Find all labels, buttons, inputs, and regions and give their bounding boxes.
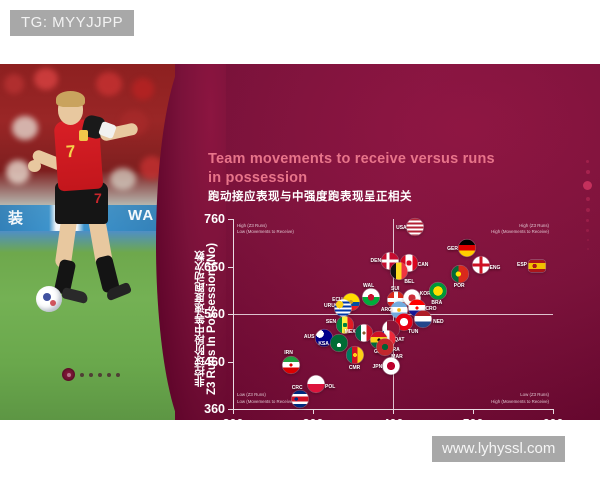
ball-icon [62,368,75,381]
screenshot-root: TG: MYYJJPP 装 WA [0,0,600,480]
country-marker-ned[interactable] [415,310,432,327]
country-label-arg: ARG [381,307,392,313]
pagination-dot[interactable] [80,373,84,377]
country-label-qat: QAT [394,337,404,343]
country-label-usa: USA [396,225,407,231]
y-axis-tick [228,219,233,220]
y-axis-tick [228,314,233,315]
y-axis-title: Z3 Runs In Possession (No) [206,224,218,414]
x-axis-tick-label: 200 [223,417,244,420]
shorts-number: 7 [94,190,102,206]
country-marker-uru[interactable] [335,300,352,317]
country-label-tun: TUN [408,329,418,335]
chart-subtitle: 跑动接应表现与中强度跑表现呈正相关 [208,188,528,204]
adboard-text-right: WA [128,207,154,224]
country-marker-eng[interactable] [473,256,490,273]
pagination-dot[interactable] [116,373,120,377]
country-label-aus: AUS [304,334,315,340]
country-marker-ger[interactable] [458,239,475,256]
player-hair [56,91,85,107]
country-marker-usa[interactable] [407,218,424,235]
country-label-bel: BEL [404,279,414,285]
player-photo: 装 WA 7 7 [0,64,175,420]
country-label-jpn: JPN [373,364,383,370]
x-axis-tick-label: 500 [463,417,484,420]
country-label-esp: ESP [517,262,527,268]
country-label-sen: SEN [326,319,336,325]
decorative-dot-strip [583,160,592,250]
country-label-uru: URU [324,303,335,309]
y-axis-tick [228,267,233,268]
country-marker-crc[interactable] [292,390,309,407]
country-label-ksa: KSA [318,341,329,347]
country-marker-irn[interactable] [282,357,299,374]
pagination-dot[interactable] [107,373,111,377]
country-label-can: CAN [418,262,429,268]
quadrant-label-top-right: High (Z3 Runs)High (Movements to Receive… [491,223,549,236]
x-axis-tick-label: 600 [543,417,564,420]
country-label-pol: POL [325,384,335,390]
country-label-wal: WAL [363,283,374,289]
country-marker-cmr[interactable] [346,346,363,363]
country-marker-bel[interactable] [391,263,408,280]
country-marker-bra[interactable] [429,283,446,300]
country-label-ger: GER [447,246,458,252]
infographic-card: 装 WA 7 7 [0,64,600,420]
site-watermark: www.lyhyssl.com [432,436,565,462]
telegram-watermark: TG: MYYJJPP [10,10,134,36]
chart-title: Team movements to receive versus runs in… [208,150,508,187]
country-label-mex: MEX [345,329,356,335]
x-axis-tick [313,409,314,414]
quadrant-label-bottom-right: Low (Z3 Runs)High (Movements to Receive) [491,392,549,405]
jersey-crest [79,130,88,141]
y-axis-tick [228,362,233,363]
jersey-number: 7 [65,142,76,163]
x-axis-tick-label: 400 [383,417,404,420]
adboard-text-left: 装 [8,207,24,228]
quadrant-label-bottom-left: Low (Z3 Runs)Low (Movements to Receive) [237,392,294,405]
country-label-irn: IRN [284,350,293,356]
country-label-cmr: CMR [349,365,360,371]
pagination-dot[interactable] [98,373,102,377]
country-label-crc: CRC [292,385,303,391]
football [36,286,62,312]
country-marker-pol[interactable] [308,376,325,393]
carousel-pagination[interactable] [62,368,120,381]
x-axis-tick [473,409,474,414]
country-label-ned: NED [433,319,444,325]
country-marker-mar[interactable] [377,339,394,356]
x-axis-tick [393,409,394,414]
country-label-eng: ENG [490,265,501,271]
country-label-sui: SUI [391,286,399,292]
quadrant-label-top-left: High (Z3 Runs)Low (Movements to Receive) [237,223,294,236]
country-marker-esp[interactable] [529,260,546,272]
country-label-den: DEN [371,258,382,264]
x-axis-tick [553,409,554,414]
country-marker-wal[interactable] [362,288,379,305]
country-marker-jpn[interactable] [383,358,400,375]
x-axis-tick [233,409,234,414]
country-marker-por[interactable] [452,266,469,283]
country-label-por: POR [454,283,465,289]
x-axis-tick-label: 300 [303,417,324,420]
y-axis-title-cn: 非控球阶段中等速度跑动次数 [192,224,207,414]
pagination-dot[interactable] [89,373,93,377]
player-left-hand [28,160,41,172]
country-marker-ksa[interactable] [330,335,347,352]
country-label-bra: BRA [431,300,442,306]
scatter-plot-area: High (Z3 Runs)Low (Movements to Receive)… [233,219,553,409]
